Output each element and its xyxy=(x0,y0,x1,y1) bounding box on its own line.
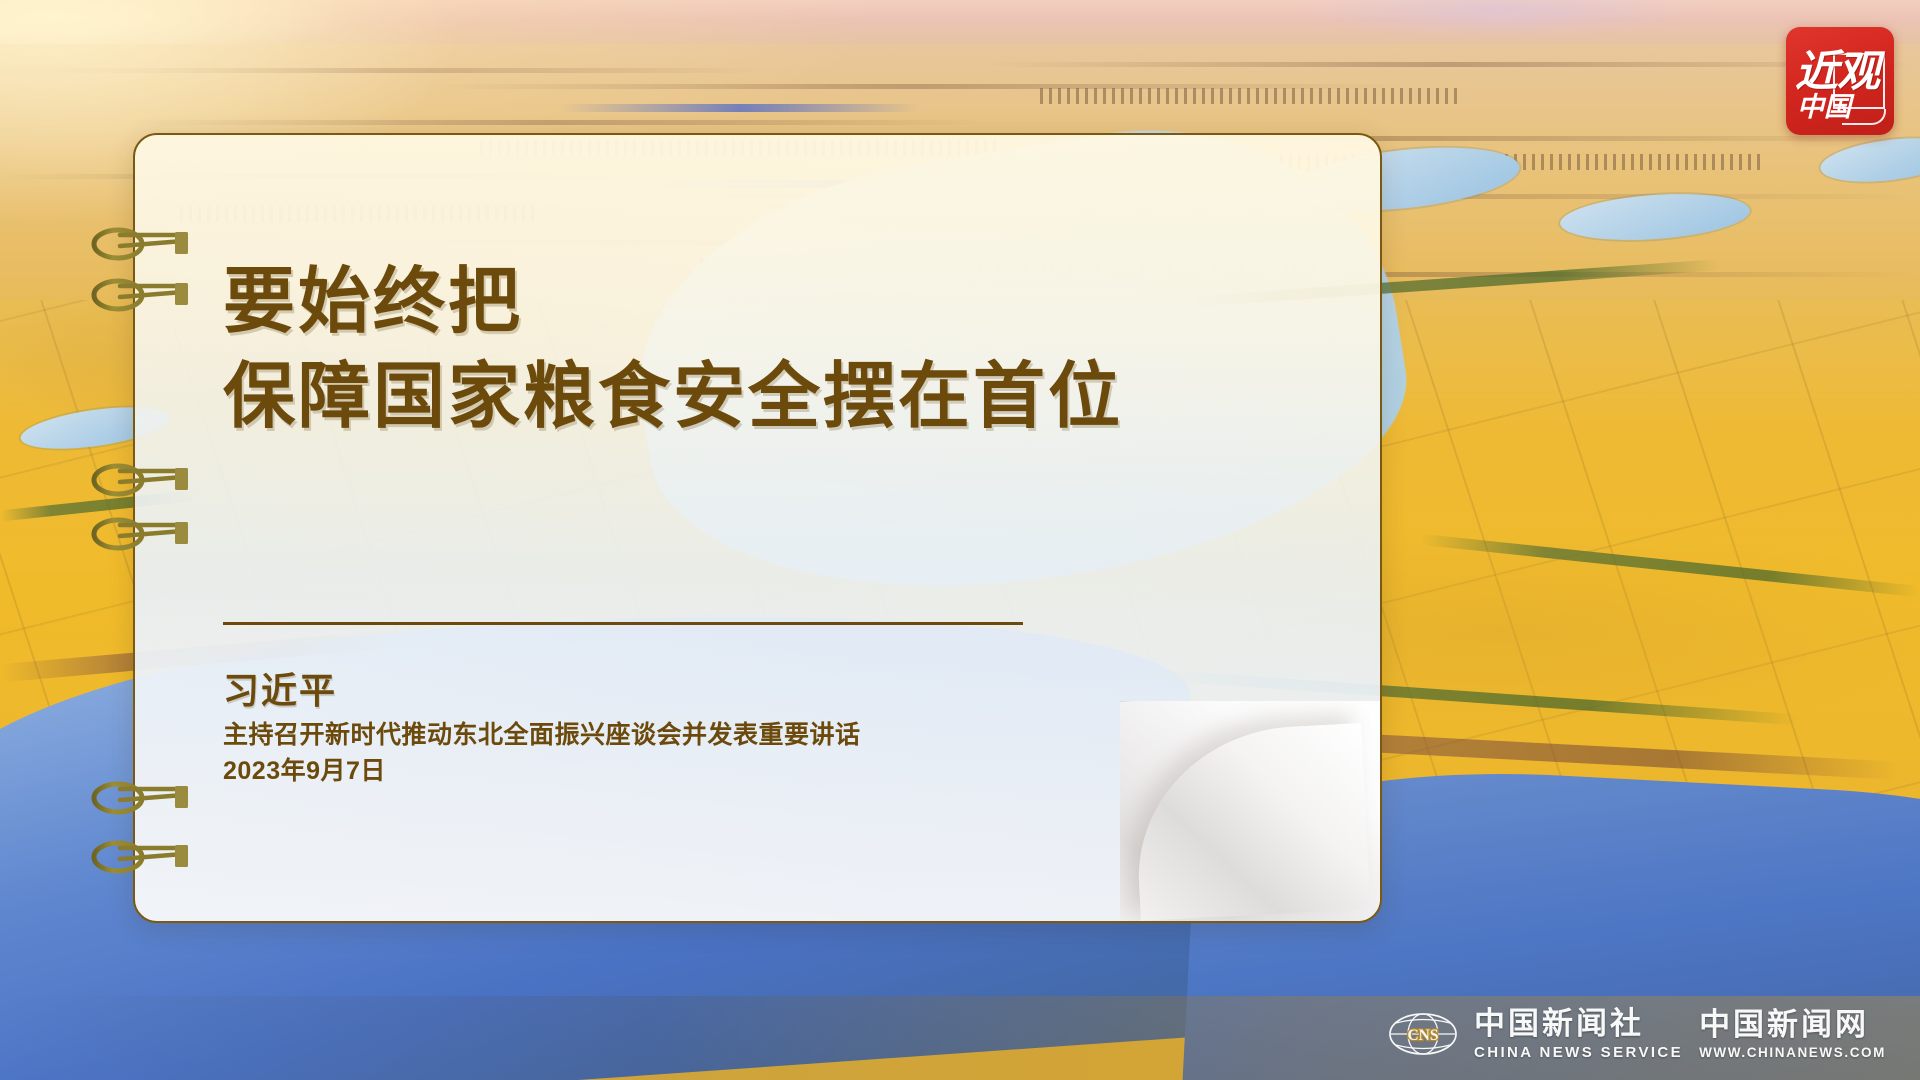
agency-name-en: CHINA NEWS SERVICE xyxy=(1474,1045,1683,1060)
logo-swoosh-icon xyxy=(1842,109,1886,125)
divider xyxy=(223,622,1023,625)
event-date: 2023年9月7日 xyxy=(223,754,861,790)
watermark: CNS 中国新闻社 CHINA NEWS SERVICE 中国新闻网 WWW.C… xyxy=(1388,1008,1886,1060)
quote-card: 要始终把 保障国家粮食安全摆在首位 习近平 主持召开新时代推动东北全面振兴座谈会… xyxy=(133,133,1382,923)
poster-canvas: 要始终把 保障国家粮食安全摆在首位 习近平 主持召开新时代推动东北全面振兴座谈会… xyxy=(0,0,1920,1080)
agency-name-cn: 中国新闻社 xyxy=(1474,1008,1683,1039)
svg-text:CNS: CNS xyxy=(1407,1027,1438,1044)
headline-line-1: 要始终把 xyxy=(223,262,523,342)
headline: 要始终把 保障国家粮食安全摆在首位 xyxy=(223,255,1380,445)
attribution: 习近平 主持召开新时代推动东北全面振兴座谈会并发表重要讲话 2023年9月7日 xyxy=(223,662,861,789)
site-url: WWW.CHINANEWS.COM xyxy=(1699,1046,1886,1060)
event-description: 主持召开新时代推动东北全面振兴座谈会并发表重要讲话 xyxy=(223,718,861,754)
cns-globe-icon: CNS xyxy=(1388,1011,1458,1057)
watermark-agency: 中国新闻社 CHINA NEWS SERVICE xyxy=(1474,1008,1683,1060)
site-name-cn: 中国新闻网 xyxy=(1699,1009,1886,1040)
jinguan-zhongguo-logo[interactable]: 近观 中国 xyxy=(1786,27,1894,135)
headline-line-2: 保障国家粮食安全摆在首位 xyxy=(223,350,1380,445)
speaker-name: 习近平 xyxy=(223,662,861,714)
watermark-site: 中国新闻网 WWW.CHINANEWS.COM xyxy=(1699,1009,1886,1060)
